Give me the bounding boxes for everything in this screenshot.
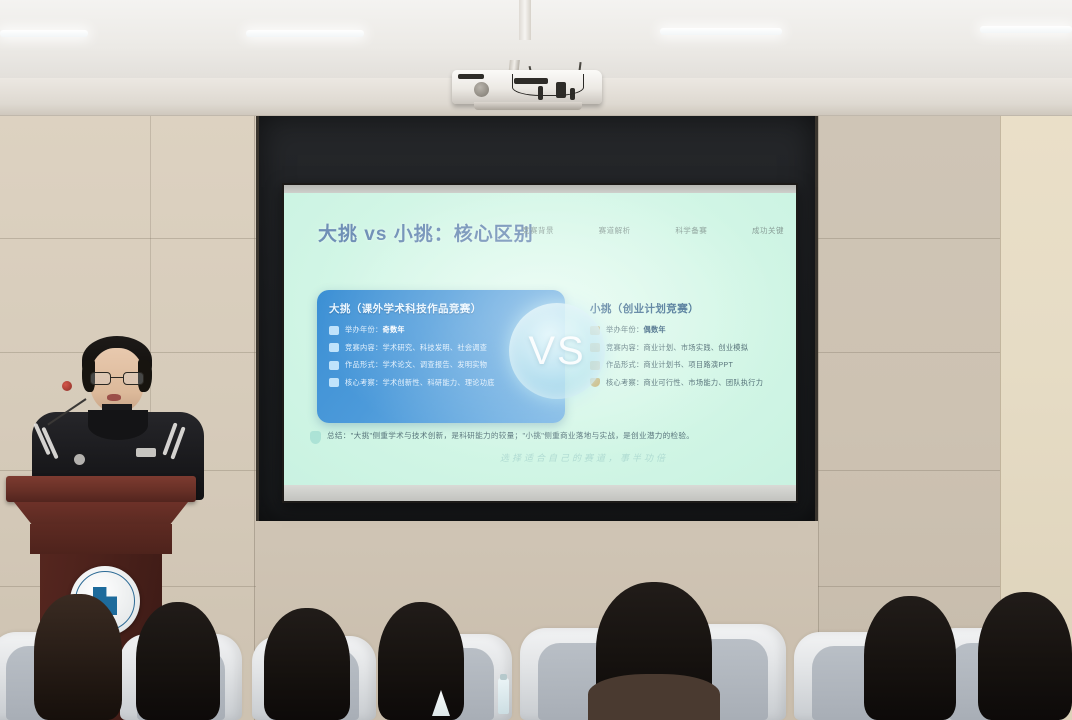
left-row-label: 核心考察：	[345, 378, 382, 387]
audience-member	[864, 596, 956, 720]
attendee-hair	[136, 602, 220, 720]
slide-nav-item-preparation[interactable]: 科学备赛	[675, 225, 707, 236]
slide-title: 大挑 vs 小挑：核心区别	[318, 219, 534, 246]
bottle-cap	[500, 674, 507, 680]
left-row-label: 作品形式：	[345, 360, 382, 369]
ceiling-light	[980, 26, 1072, 33]
screen-top-bar	[284, 185, 796, 193]
slide-nav-item-track[interactable]: 赛道解析	[599, 225, 631, 236]
projector-cable	[512, 74, 584, 96]
glasses-lens	[90, 372, 111, 385]
right-panel-heading: 小挑（创业计划竞赛）	[590, 301, 778, 316]
audience-member	[978, 592, 1072, 720]
jacket-badge	[74, 454, 85, 465]
left-row-value: 学术创新性、科研能力、理论功底	[382, 378, 494, 387]
right-row-label: 核心考察：	[606, 378, 643, 387]
audience-member	[264, 608, 350, 720]
right-row-label: 作品形式：	[606, 360, 643, 369]
vs-label: VS	[528, 329, 585, 374]
slide-nav-item-keys[interactable]: 成功关键	[752, 225, 784, 236]
right-row-value: 偶数年	[643, 325, 665, 334]
presenter	[18, 330, 218, 490]
right-panel-row: 核心考察：商业可行性、市场能力、团队执行力	[590, 378, 778, 388]
projector-base	[474, 102, 582, 110]
presentation-slide: 大挑 vs 小挑：核心区别 竞赛背景 赛道解析 科学备赛 成功关键 大挑（课外学…	[284, 193, 796, 485]
attendee-hair	[378, 602, 464, 720]
document-icon	[329, 343, 339, 352]
left-row-label: 举办年份：	[345, 325, 382, 334]
audience-member	[378, 602, 464, 720]
right-panel-row: 作品形式：商业计划书、项目路演PPT	[590, 360, 778, 370]
podium-top	[6, 476, 196, 502]
target-icon	[329, 378, 339, 387]
jacket-logo	[136, 448, 156, 457]
summary-text: 总结："大挑"侧重学术与技术创新，是科研能力的较量；"小挑"侧重商业落地与实战，…	[327, 431, 694, 442]
projector-mount	[519, 0, 531, 40]
wall-seam	[818, 352, 1000, 353]
lecture-hall-scene: 大挑 vs 小挑：核心区别 竞赛背景 赛道解析 科学备赛 成功关键 大挑（课外学…	[0, 0, 1072, 720]
audience-member	[596, 582, 712, 720]
glasses-bridge	[111, 377, 123, 378]
presenter-mouth	[107, 394, 121, 401]
slide-nav-item-background[interactable]: 竞赛背景	[522, 225, 554, 236]
attendee-hair	[864, 596, 956, 720]
podium-bevel	[14, 502, 188, 524]
file-icon	[329, 361, 339, 370]
ceiling-light	[246, 30, 364, 37]
shield-icon	[310, 431, 321, 444]
right-row-value: 商业计划书、项目路演PPT	[643, 360, 733, 369]
attendee-hair	[978, 592, 1072, 720]
vs-badge: VS	[509, 303, 605, 399]
left-row-value: 学术研究、科技发明、社会调查	[382, 343, 487, 352]
projector-lens	[474, 82, 489, 97]
right-row-label: 竞赛内容：	[606, 343, 643, 352]
jacket-collar	[88, 410, 148, 440]
left-row-value: 奇数年	[382, 325, 404, 334]
podium-neck	[30, 524, 172, 554]
wall-seam	[818, 238, 1000, 239]
microphone-icon	[62, 381, 72, 391]
wall-seam	[0, 238, 256, 239]
audience-member	[136, 602, 220, 720]
summary-faint-line: 选择适合自己的赛道，事半功倍	[434, 451, 734, 464]
left-panel-heading: 大挑（课外学术科技作品竞赛）	[329, 301, 553, 316]
projector-vent	[458, 74, 484, 79]
right-panel-row: 竞赛内容：商业计划、市场实践、创业模拟	[590, 343, 778, 353]
right-comparison-panel: 小挑（创业计划竞赛） 举办年份：偶数年 竞赛内容：商业计划、市场实践、创业模拟 …	[584, 290, 784, 423]
right-row-label: 举办年份：	[606, 325, 643, 334]
right-row-value: 商业可行性、市场能力、团队执行力	[643, 378, 763, 387]
left-row-label: 竞赛内容：	[345, 343, 382, 352]
glasses-icon	[90, 372, 144, 385]
screen-bottom-bar	[284, 485, 796, 501]
ceiling-light	[660, 28, 782, 35]
right-row-value: 商业计划、市场实践、创业模拟	[643, 343, 748, 352]
ceiling-light	[0, 30, 88, 37]
glasses-lens	[123, 372, 144, 385]
calendar-icon	[329, 326, 339, 335]
right-panel-row: 举办年份：偶数年	[590, 325, 778, 335]
ceiling-projector	[452, 60, 602, 112]
attendee-hair	[34, 594, 122, 720]
attendee-shoulders	[588, 674, 720, 720]
attendee-hair	[264, 608, 350, 720]
audience	[0, 560, 1072, 720]
left-row-value: 学术论文、调查报告、发明实物	[382, 360, 487, 369]
audience-member	[34, 594, 122, 720]
water-bottle	[498, 678, 509, 714]
slide-nav: 竞赛背景 赛道解析 科学备赛 成功关键	[522, 225, 784, 236]
slide-summary: 总结："大挑"侧重学术与技术创新，是科研能力的较量；"小挑"侧重商业落地与实战，…	[310, 431, 780, 444]
wall-seam	[818, 470, 1000, 471]
